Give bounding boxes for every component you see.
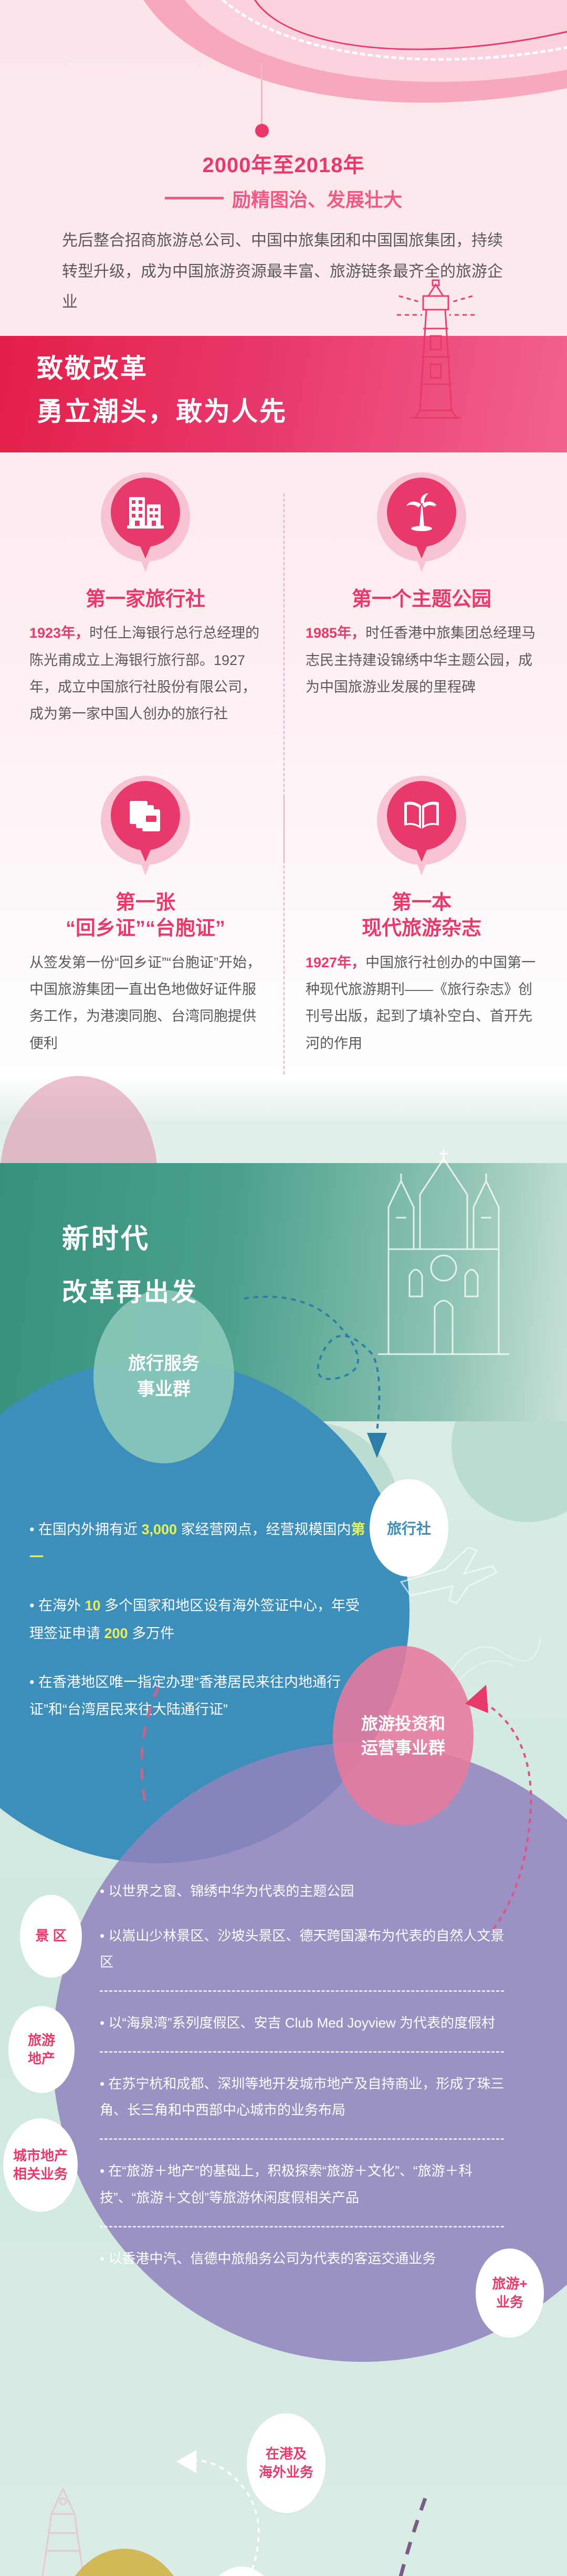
bullet-item: • 在海外 10 多个国家和地区设有海外签证中心，年受理签证申请 200 多万件 [29, 1592, 365, 1647]
card-first-permit: 第一张 “回乡证”“台胞证” 从签发第一份“回乡证”“台胞证”开始，中国旅游集团… [22, 776, 269, 1057]
history-section: 2000年至2018年 励精图治、发展壮大 先后整合招商旅游总公司、中国中旅集团… [0, 0, 567, 1076]
bullet-number: 3,000 [141, 1522, 177, 1537]
open-book-icon [387, 781, 456, 850]
card-first-magazine: 第一本 现代旅游杂志 1927年，中国旅行社创办的中国第一种现代旅游期刊——《旅… [298, 776, 545, 1057]
tag-urban-real-estate: 城市地产相关业务 [3, 2118, 78, 2212]
card-body: 1985年，时任香港中旅集团总经理马志民主持建设锦绣中华主题公园，成为中国旅游业… [298, 620, 545, 701]
bullet-pre: • 在海外 [29, 1598, 85, 1613]
new-era-banner-title: 新时代 [62, 1217, 150, 1256]
bullet-item: • 在香港地区唯一指定办理“香港居民来往内地通行证”和“台湾居民来往大陆通行证” [29, 1669, 365, 1724]
bullet-number-2: 200 [104, 1625, 128, 1641]
tag-label: 在港及海外业务 [259, 2445, 313, 2482]
bullet-number: 10 [85, 1598, 100, 1613]
tag-label: 景 区 [35, 1927, 66, 1945]
card-first-theme-park: 第一个主题公园 1985年，时任香港中旅集团总经理马志民主持建设锦绣中华主题公园… [298, 472, 545, 701]
lighthouse-icon [378, 273, 493, 430]
bullet-item: • 在苏宁杭和成都、深圳等地开发城市地产及自持商业，形成了珠三角、长三角和中西部… [100, 2071, 514, 2124]
era-dash-rule [165, 197, 224, 199]
bullet-mid: 家经营网点，经营规模国内 [177, 1522, 351, 1537]
tag-label: 城市地产相关业务 [13, 2147, 68, 2183]
tribute-banner-title: 致敬改革 [37, 347, 148, 385]
tag-label: 旅行社 [387, 1517, 431, 1538]
card-title-line1: 第一本 [298, 890, 545, 916]
card-body: 1927年，中国旅行社创办的中国第一种现代旅游期刊——《旅行杂志》创刊号出版，起… [298, 949, 545, 1057]
connector-dash-retail-finance [362, 2493, 446, 2576]
tag-label: 旅游+业务 [492, 2275, 527, 2311]
era-subtitle-text: 励精图治、发展壮大 [232, 189, 402, 210]
tag-scenic-area: 景 区 [20, 1895, 82, 1978]
firsts-card-grid: 第一家旅行社 1923年，时任上海银行总行总经理的陈光甫成立上海银行旅行部。19… [0, 472, 567, 1070]
arc-decor-inner [131, 0, 567, 135]
card-title: 第一张 “回乡证”“台胞证” [22, 890, 269, 942]
group-label-travel-service: 旅行服务事业群 [93, 1290, 234, 1463]
card-pin [377, 472, 466, 577]
travel-service-bullets: • 在国内外拥有近 3,000 家经营网点，经营规模国内第一 • 在海外 10 … [29, 1516, 365, 1745]
card-pin [377, 776, 466, 881]
tribute-banner-subtitle: 勇立潮头，敢为人先 [37, 390, 287, 428]
buildings-icon [111, 478, 180, 547]
cathedral-icon [357, 1144, 530, 1391]
bullet-item: • 以“海泉湾”系列度假区、安吉 Club Med Joyview 为代表的度假… [100, 2010, 514, 2036]
card-pin [101, 776, 190, 881]
card-pin [101, 472, 190, 577]
investment-bullets: • 以世界之窗、锦绣中华为代表的主题公园 • 以嵩山少林景区、沙坡头景区、德天跨… [100, 1878, 514, 2280]
tag-travel-agency: 旅行社 [370, 1479, 448, 1577]
timeline-stem [261, 63, 262, 126]
bullet-item: • 在“旅游＋地产”的基础上，积极探索“旅游＋文化”、“旅游＋科技”、“旅游＋文… [100, 2158, 514, 2211]
card-row-divider [283, 797, 285, 1076]
tag-duty-free: 免 税 [205, 2567, 278, 2576]
tag-hk-overseas: 在港及海外业务 [247, 2413, 325, 2513]
bullet-post: 多万件 [128, 1625, 175, 1641]
bullet-separator [100, 1990, 504, 1992]
arc-decor-outer [91, 0, 567, 160]
group-label-text: 旅游投资和运营事业群 [361, 1712, 445, 1760]
arc-decor-thin [225, 0, 567, 96]
bullet-separator [100, 2138, 504, 2140]
bullet-item: • 以嵩山少林景区、沙坡头景区、德天跨国瀑布为代表的自然人文景区 [100, 1923, 514, 1976]
era-subtitle: 励精图治、发展壮大 [0, 185, 567, 212]
bullet-item: • 以香港中汽、信德中旅船务公司为代表的客运交通业务 [100, 2245, 514, 2272]
new-era-banner-subtitle: 改革再出发 [62, 1271, 198, 1308]
bullet-pre: • 在国内外拥有近 [29, 1522, 141, 1537]
era-year-label: 2000年至2018年 [0, 148, 567, 178]
arc-decor-dashed [159, 0, 567, 111]
card-highlight: 1923年， [29, 625, 89, 641]
card-highlight: 1927年， [306, 955, 365, 970]
card-first-travel-agency: 第一家旅行社 1923年，时任上海银行总行总经理的陈光甫成立上海银行旅行部。19… [22, 472, 269, 728]
tag-tourism-plus: 旅游+业务 [476, 2248, 544, 2338]
bullet-item: • 在国内外拥有近 3,000 家经营网点，经营规模国内第一 [29, 1516, 365, 1571]
documents-icon [111, 781, 180, 850]
card-title: 第一家旅行社 [22, 587, 269, 613]
card-title: 第一个主题公园 [298, 587, 545, 613]
tag-label: 旅游地产 [28, 2031, 55, 2068]
card-title-line2: “回乡证”“台胞证” [22, 916, 269, 942]
card-title: 第一本 现代旅游杂志 [298, 890, 545, 942]
new-era-section: 新时代 改革再出发 旅行服务事业群 旅行社 • 在国内外拥有近 3,000 家经… [0, 1076, 567, 2576]
card-body: 从签发第一份“回乡证”“台胞证”开始，中国旅游集团一直出色地做好证件服务工作，为… [22, 949, 269, 1057]
tag-tourism-real-estate: 旅游地产 [8, 2006, 75, 2093]
bullet-item: • 以世界之窗、锦绣中华为代表的主题公园 [100, 1878, 514, 1905]
card-title-line2: 现代旅游杂志 [298, 916, 545, 942]
bullet-separator [100, 2226, 504, 2227]
group-label-text: 旅行服务事业群 [128, 1351, 199, 1403]
card-body: 1923年，时任上海银行总行总经理的陈光甫成立上海银行旅行部。1927年，成立中… [22, 620, 269, 727]
card-highlight: 1985年， [306, 625, 365, 641]
bullet-separator [100, 2051, 504, 2053]
timeline-node-dot [255, 124, 269, 138]
card-title-line1: 第一张 [22, 890, 269, 916]
palm-tree-icon [387, 478, 456, 547]
